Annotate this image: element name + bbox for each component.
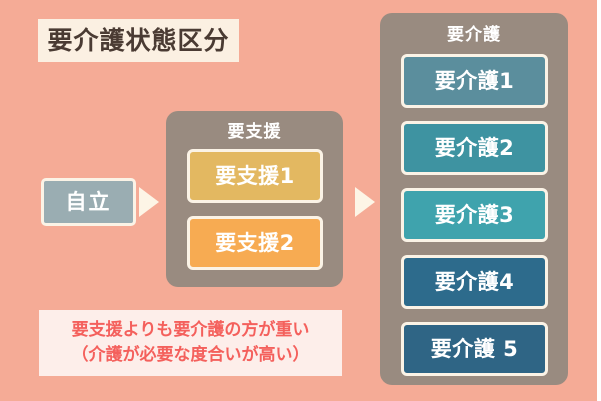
level-label-care-1: 要介護1 (435, 71, 515, 92)
level-label-independent: 自立 (66, 192, 112, 213)
level-box-support-2: 要支援2 (187, 216, 323, 270)
group-panel-support: 要支援 要支援1 要支援2 (166, 111, 343, 287)
level-label-care-2: 要介護2 (435, 138, 515, 159)
caption-note: 要支援よりも要介護の方が重い （介護が必要な度合いが高い） (39, 310, 342, 376)
level-label-care-5: 要介護 5 (431, 339, 518, 360)
level-label-support-1: 要支援1 (215, 166, 295, 187)
level-label-care-3: 要介護3 (435, 205, 515, 226)
caption-line-1: 要支援よりも要介護の方が重い (72, 318, 310, 344)
level-label-care-4: 要介護4 (435, 272, 515, 293)
page-title-text: 要介護状態区分 (47, 28, 229, 53)
group-panel-care: 要介護 要介護1 要介護2 要介護3 要介護4 要介護 5 (380, 13, 568, 385)
level-box-care-3: 要介護3 (401, 188, 548, 242)
diagram-canvas: 要介護状態区分 自立 要支援 要支援1 要支援2 要介護 要介護1 要介護2 要… (0, 0, 601, 401)
group-title-care: 要介護 (380, 27, 568, 44)
page-title: 要介護状態区分 (38, 19, 239, 62)
triangle-right-icon (139, 187, 159, 217)
triangle-right-icon (355, 187, 375, 217)
caption-line-2: （介護が必要な度合いが高い） (72, 343, 310, 369)
page-edge-right (597, 0, 601, 401)
group-title-support: 要支援 (166, 124, 343, 141)
level-box-care-1: 要介護1 (401, 54, 548, 108)
level-box-care-5: 要介護 5 (401, 322, 548, 376)
level-box-care-2: 要介護2 (401, 121, 548, 175)
level-box-support-1: 要支援1 (187, 149, 323, 203)
level-label-support-2: 要支援2 (215, 233, 295, 254)
level-box-independent: 自立 (41, 178, 136, 226)
level-box-care-4: 要介護4 (401, 255, 548, 309)
